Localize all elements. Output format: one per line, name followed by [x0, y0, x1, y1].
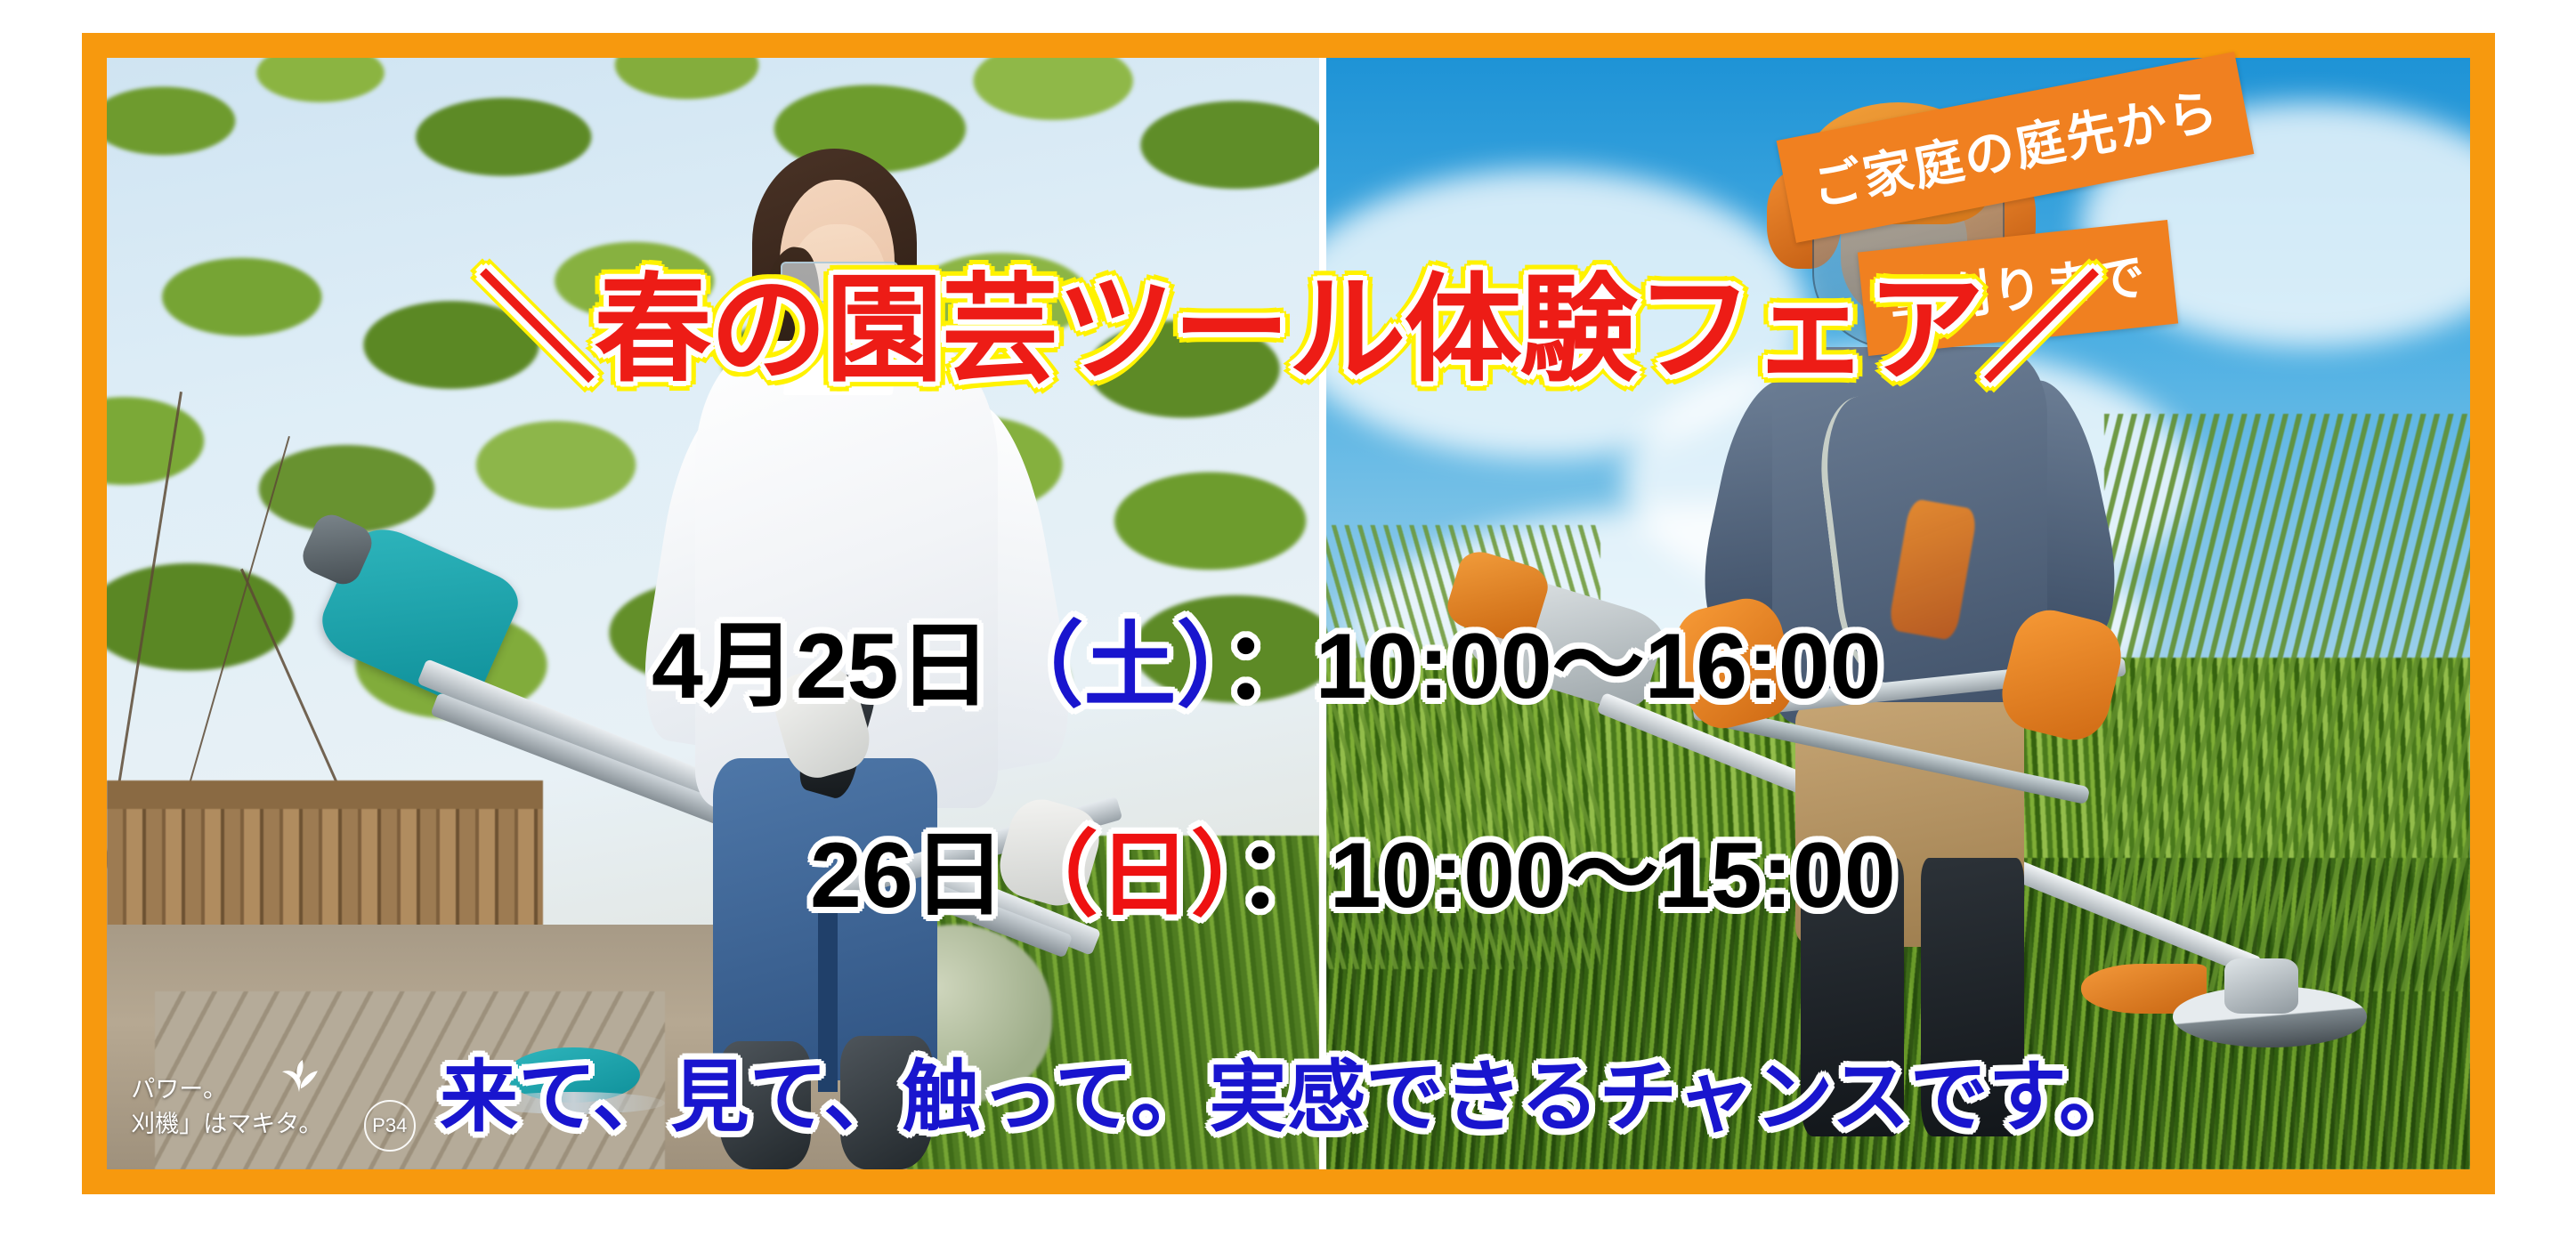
makita-caption-line-2: 刈機」はマキタ。 — [131, 1107, 322, 1142]
photo-right-man-with-brushcutter — [1326, 58, 2470, 1169]
woman-shirt-collar — [782, 340, 897, 395]
woman-right-boot — [840, 1036, 933, 1169]
photo-collage: パワー。 刈機」はマキタ。 P34 — [107, 58, 2470, 1169]
right-weeds — [2104, 414, 2470, 991]
brushcutter-gear-head — [2224, 958, 2299, 1014]
helmet-band — [1795, 147, 2001, 191]
man-left-leg — [1801, 858, 1904, 1136]
safety-goggles-icon — [781, 262, 898, 303]
photo-left-woman-with-trimmer: パワー。 刈機」はマキタ。 P34 — [107, 58, 1319, 1169]
sprout-leaf-icon — [279, 1060, 320, 1094]
makita-trimmer-blade — [482, 1092, 664, 1114]
woman-jeans-seam — [818, 892, 838, 1092]
poster-frame: パワー。 刈機」はマキタ。 P34 — [82, 33, 2495, 1194]
woman-left-boot — [719, 1041, 812, 1169]
man-right-leg — [1921, 858, 2024, 1136]
page-badge: P34 — [364, 1100, 416, 1152]
